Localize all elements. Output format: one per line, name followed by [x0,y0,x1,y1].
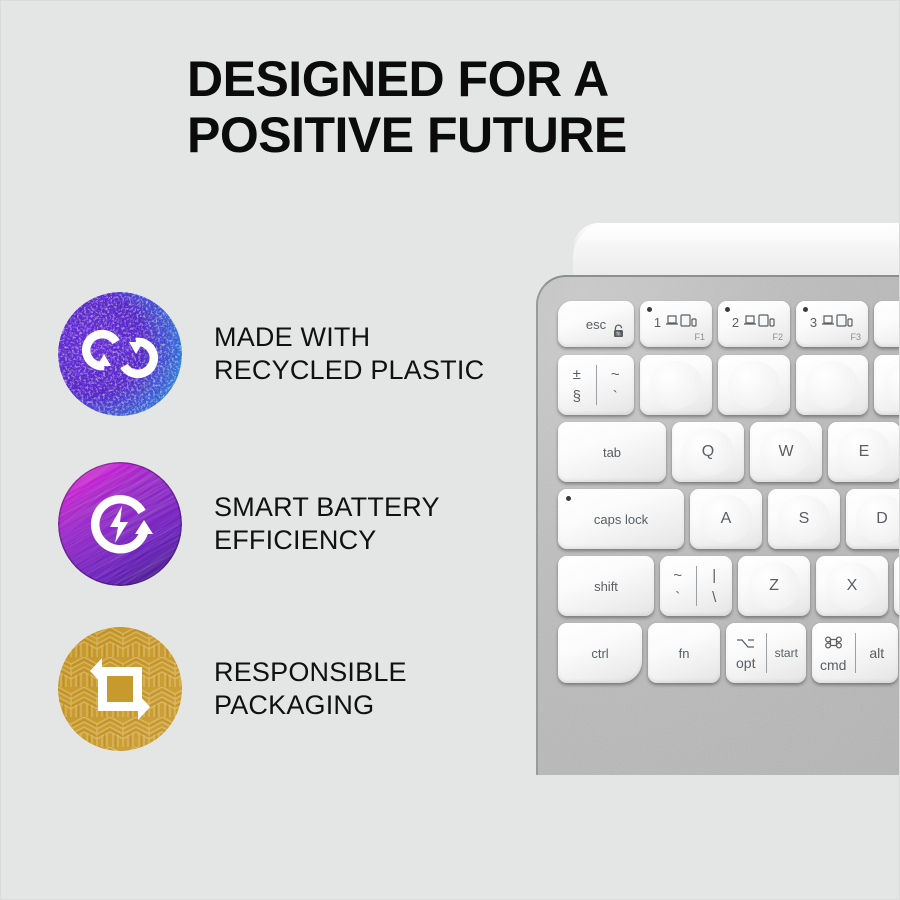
page-title: DESIGNED FOR A POSITIVE FUTURE [187,51,847,163]
key-x[interactable]: X [816,556,888,616]
key-2-shift-label: @ [746,369,761,384]
led-dot-icon [647,307,652,312]
device-switch-icon [742,313,776,331]
keyboard-product-image: esc fn 1 F1 [528,223,900,768]
key-ctrl[interactable]: ctrl [558,623,642,683]
key-caps-lock-label: caps lock [594,513,648,526]
key-2[interactable]: @ 2 [718,355,790,415]
key-1-shift-label: ! [674,369,678,384]
key-q[interactable]: Q [672,422,744,482]
key-s-label: S [799,511,810,527]
feature-responsible-packaging: RESPONSIBLE PACKAGING [58,627,407,751]
device-switch-icon [820,313,854,331]
key-4[interactable]: $ 4 [874,355,900,415]
key-fn[interactable]: fn [648,623,720,683]
key-1[interactable]: ! 1 [640,355,712,415]
key-s[interactable]: S [768,489,840,549]
key-z[interactable]: Z [738,556,810,616]
key-esc[interactable]: esc fn [558,301,634,347]
key-w[interactable]: W [750,422,822,482]
key-f1[interactable]: 1 F1 [640,301,712,347]
key-f2-fnlabel: F2 [772,332,783,342]
key-z-label: Z [769,578,779,594]
key-d[interactable]: D [846,489,900,549]
key-x-label: X [847,578,858,594]
key-f1-fnlabel: F1 [694,332,705,342]
key-f2[interactable]: 2 F2 [718,301,790,347]
recycle-loop-icon [58,292,182,416]
key-cmd-label: cmd [820,657,846,673]
feature-smart-battery-efficiency: SMART BATTERY EFFICIENCY [58,462,440,586]
packaging-loop-icon [58,627,182,751]
key-section-tilde-left-bottom: § [573,388,581,405]
key-shift[interactable]: shift [558,556,654,616]
key-section-tilde[interactable]: ± § ~ ` [558,355,634,415]
key-opt-label: opt [736,655,755,671]
svg-text:fn: fn [616,332,620,338]
key-c[interactable] [894,556,900,616]
feature-label: RESPONSIBLE PACKAGING [214,656,407,722]
key-caps-lock[interactable]: caps lock [558,489,684,549]
feature-label: SMART BATTERY EFFICIENCY [214,491,440,557]
key-f3[interactable]: 3 F3 [796,301,868,347]
key-d-label: D [876,511,888,527]
key-fn-label: fn [679,647,690,660]
key-1-label: 1 [672,387,680,402]
key-a-label: A [721,511,732,527]
key-shift-label: shift [594,580,618,593]
promo-graphic: DESIGNED FOR A POSITIVE FUTURE [0,0,900,900]
command-icon [825,634,842,655]
key-w-label: W [778,444,793,460]
key-start-label: start [767,646,807,660]
key-q-label: Q [702,444,714,460]
option-icon [736,636,756,653]
key-f3-channel: 3 [810,315,817,330]
led-dot-icon [803,307,808,312]
key-alt-label: alt [856,645,899,661]
caps-lock-led-icon [566,496,571,501]
key-opt-start[interactable]: opt start [726,623,806,683]
key-f4[interactable]: F4 [874,301,900,347]
key-backslash-right-top: | [712,567,716,584]
key-section-tilde-right-bottom: ` [613,388,618,405]
key-a[interactable]: A [690,489,762,549]
key-2-label: 2 [750,387,758,402]
key-3-label: 3 [828,387,836,402]
key-section-tilde-right-top: ~ [611,366,620,383]
key-backtick-backslash[interactable]: ~ ` | \ [660,556,732,616]
device-switch-icon [664,313,698,331]
fn-lock-icon: fn [612,324,625,341]
feature-made-with-recycled-plastic: MADE WITH RECYCLED PLASTIC [58,292,484,416]
key-tab-label: tab [603,446,621,459]
key-3-shift-label: # [828,369,836,384]
key-f2-channel: 2 [732,315,739,330]
key-f1-channel: 1 [654,315,661,330]
key-section-tilde-left-top: ± [573,366,581,383]
key-backtick-left-bottom: ` [675,589,680,606]
key-f3-fnlabel: F3 [850,332,861,342]
battery-refresh-bolt-icon [58,462,182,586]
key-e[interactable]: E [828,422,900,482]
key-e-label: E [859,444,870,460]
key-tab[interactable]: tab [558,422,666,482]
key-cmd-alt[interactable]: cmd alt [812,623,898,683]
key-esc-label: esc [586,318,606,331]
feature-label: MADE WITH RECYCLED PLASTIC [214,321,484,387]
key-backslash-right-bottom: \ [712,589,716,606]
key-backtick-left-top: ~ [673,567,682,584]
led-dot-icon [725,307,730,312]
key-3[interactable]: # 3 [796,355,868,415]
key-ctrl-label: ctrl [591,647,608,660]
